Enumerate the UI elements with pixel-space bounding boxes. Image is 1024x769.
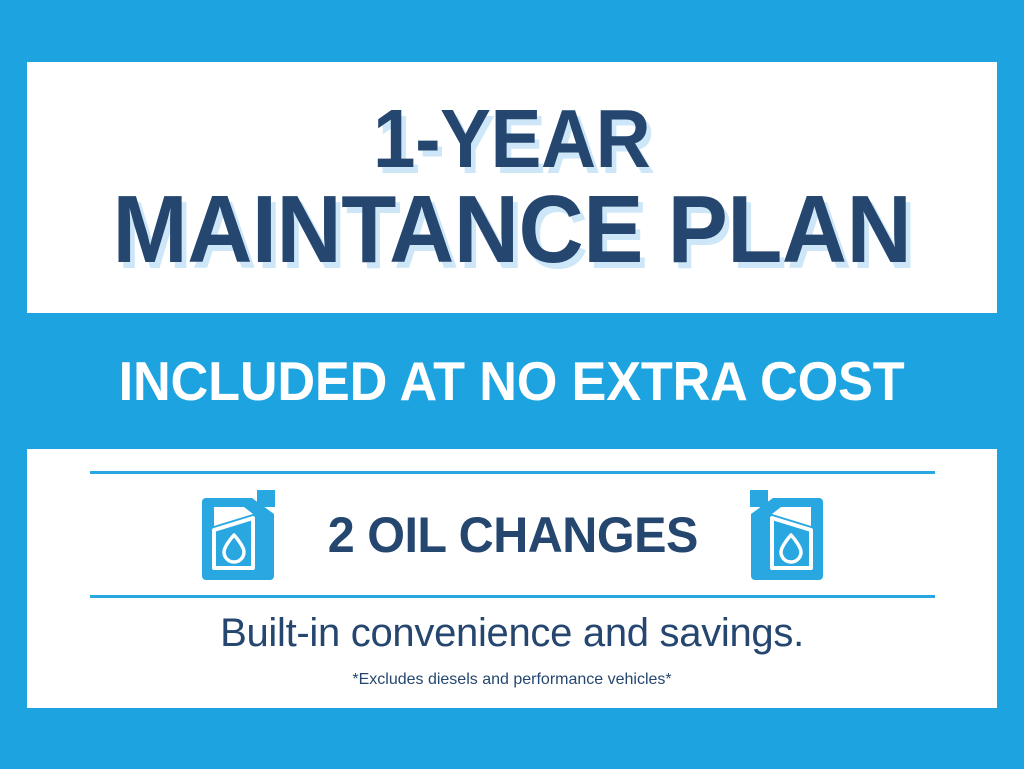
oil-jug-icon-left [200,489,278,581]
headline-line-2: MAINTANCE PLAN [113,183,912,277]
headline-panel: 1-YEAR MAINTANCE PLAN [27,62,997,313]
subtitle-text: INCLUDED AT NO EXTRA COST [119,349,905,413]
divider-top [90,471,935,474]
oil-jug-icon-right [747,489,825,581]
detail-panel: 2 OIL CHANGES Built-in convenience and s… [27,449,997,708]
feature-row: 2 OIL CHANGES [90,479,935,591]
disclaimer-text: *Excludes diesels and performance vehicl… [27,671,997,689]
subtitle-band: INCLUDED AT NO EXTRA COST [0,318,1024,444]
headline-line-1: 1-YEAR [373,98,650,179]
divider-bottom [90,595,935,598]
promotional-poster: 1-YEAR MAINTANCE PLAN INCLUDED AT NO EXT… [0,0,1024,769]
feature-label: 2 OIL CHANGES [327,506,697,564]
tagline-text: Built-in convenience and savings. [27,611,997,656]
